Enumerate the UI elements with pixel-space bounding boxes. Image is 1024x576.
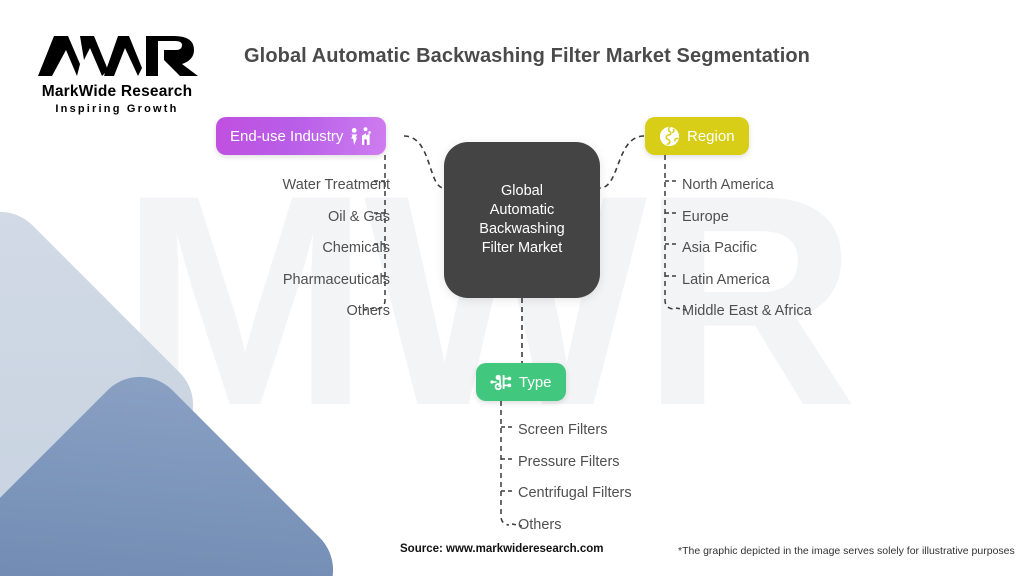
list-item: Latin America: [682, 265, 942, 297]
branch-list-type: Screen Filters Pressure Filters Centrifu…: [518, 415, 778, 541]
list-item: Middle East & Africa: [682, 296, 942, 328]
badge-end-use-industry[interactable]: End-use Industry: [216, 117, 386, 155]
badge-type[interactable]: Type: [476, 363, 566, 401]
brand-logo: MarkWide Research Inspiring Growth: [28, 30, 206, 115]
globe-icon: [659, 126, 680, 147]
branch-list-region: North America Europe Asia Pacific Latin …: [682, 170, 942, 328]
list-item: North America: [682, 170, 942, 202]
page-title: Global Automatic Backwashing Filter Mark…: [244, 45, 810, 68]
badge-region[interactable]: Region: [645, 117, 749, 155]
list-item: Others: [200, 296, 390, 328]
list-item: Screen Filters: [518, 415, 778, 447]
logo-tagline: Inspiring Growth: [28, 103, 206, 115]
list-item: Chemicals: [200, 233, 390, 265]
branch-list-end-use-industry: Water Treatment Oil & Gas Chemicals Phar…: [200, 170, 390, 328]
list-item: Pharmaceuticals: [200, 265, 390, 297]
center-node: Global Automatic Backwashing Filter Mark…: [444, 142, 600, 298]
logo-company-name: MarkWide Research: [28, 83, 206, 101]
list-item: Oil & Gas: [200, 202, 390, 234]
network-nodes-icon: [490, 372, 512, 392]
list-item: Asia Pacific: [682, 233, 942, 265]
mwr-logo-icon: [28, 30, 206, 82]
center-node-label: Global Automatic Backwashing Filter Mark…: [479, 182, 564, 258]
footer-source-text: Source: www.markwideresearch.com: [400, 543, 603, 555]
list-item: Pressure Filters: [518, 447, 778, 479]
list-item: Europe: [682, 202, 942, 234]
list-item: Water Treatment: [200, 170, 390, 202]
industry-people-icon: [350, 126, 372, 146]
badge-label-type: Type: [519, 374, 552, 391]
list-item: Others: [518, 510, 778, 542]
footer-disclaimer-text: *The graphic depicted in the image serve…: [678, 545, 1015, 557]
list-item: Centrifugal Filters: [518, 478, 778, 510]
badge-label-region: Region: [687, 128, 735, 145]
badge-label-end-use-industry: End-use Industry: [230, 128, 343, 145]
